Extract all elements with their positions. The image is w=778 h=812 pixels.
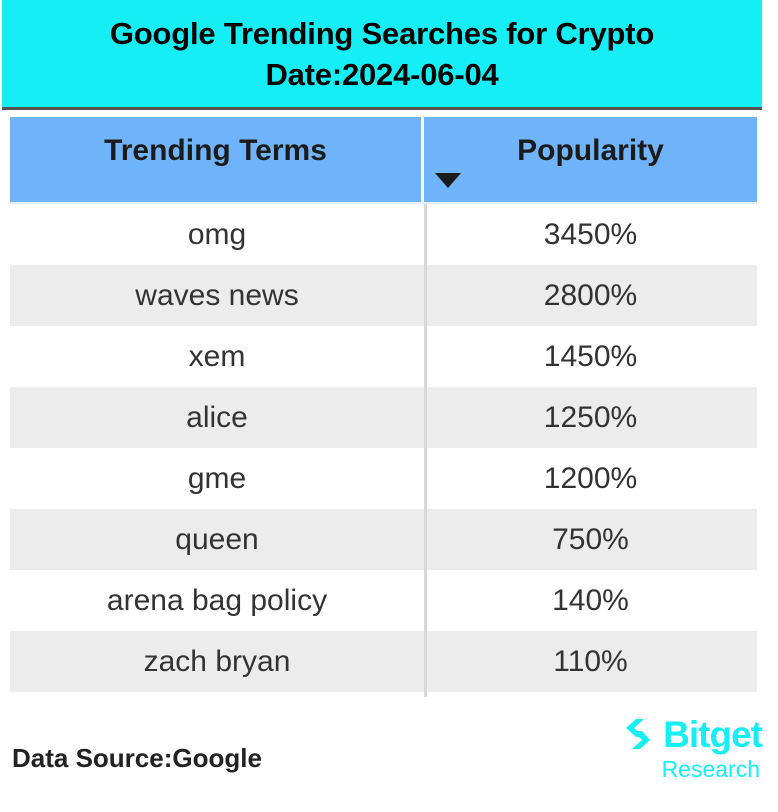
- page-date: Date:2024-06-04: [265, 54, 498, 95]
- table-row[interactable]: omg 3450%: [10, 204, 757, 265]
- cell-trending-term: zach bryan: [10, 631, 424, 692]
- cell-popularity: 2800%: [424, 265, 757, 326]
- column-divider: [424, 204, 427, 697]
- cell-trending-term: queen: [10, 509, 424, 570]
- cell-trending-term: gme: [10, 448, 424, 509]
- page-title: Google Trending Searches for Crypto: [110, 13, 654, 54]
- cell-trending-term: alice: [10, 387, 424, 448]
- cell-popularity: 140%: [424, 570, 757, 631]
- column-header-label: Popularity: [517, 134, 664, 168]
- cell-popularity: 1450%: [424, 326, 757, 387]
- cell-popularity: 750%: [424, 509, 757, 570]
- title-banner: Google Trending Searches for Crypto Date…: [2, 0, 762, 110]
- table-row[interactable]: alice 1250%: [10, 387, 757, 448]
- cell-trending-term: arena bag policy: [10, 570, 424, 631]
- column-header-popularity[interactable]: Popularity: [424, 117, 757, 202]
- logo-subtitle: Research: [602, 756, 762, 782]
- cell-trending-term: xem: [10, 326, 424, 387]
- cell-popularity: 1250%: [424, 387, 757, 448]
- trending-table: Trending Terms Popularity omg 3450% wave…: [10, 117, 757, 692]
- sort-descending-icon[interactable]: [435, 173, 461, 188]
- table-row[interactable]: arena bag policy 140%: [10, 570, 757, 631]
- cell-trending-term: waves news: [10, 265, 424, 326]
- table-row[interactable]: queen 750%: [10, 509, 757, 570]
- table-row[interactable]: waves news 2800%: [10, 265, 757, 326]
- logo-wordmark-row: Bitget: [602, 712, 762, 756]
- cell-popularity: 3450%: [424, 204, 757, 265]
- column-header-label: Trending Terms: [104, 134, 327, 168]
- data-source-label: Data Source:Google: [12, 743, 262, 774]
- cell-popularity: 1200%: [424, 448, 757, 509]
- logo-wordmark: Bitget: [663, 716, 762, 753]
- bitget-research-logo: Bitget Research: [602, 712, 762, 782]
- bitget-logo-icon: [619, 717, 659, 751]
- table-row[interactable]: xem 1450%: [10, 326, 757, 387]
- table-row[interactable]: gme 1200%: [10, 448, 757, 509]
- column-header-trending-terms[interactable]: Trending Terms: [10, 117, 424, 202]
- table-header-row: Trending Terms Popularity: [10, 117, 757, 204]
- table-row[interactable]: zach bryan 110%: [10, 631, 757, 692]
- cell-trending-term: omg: [10, 204, 424, 265]
- cell-popularity: 110%: [424, 631, 757, 692]
- table-body: omg 3450% waves news 2800% xem 1450% ali…: [10, 204, 757, 692]
